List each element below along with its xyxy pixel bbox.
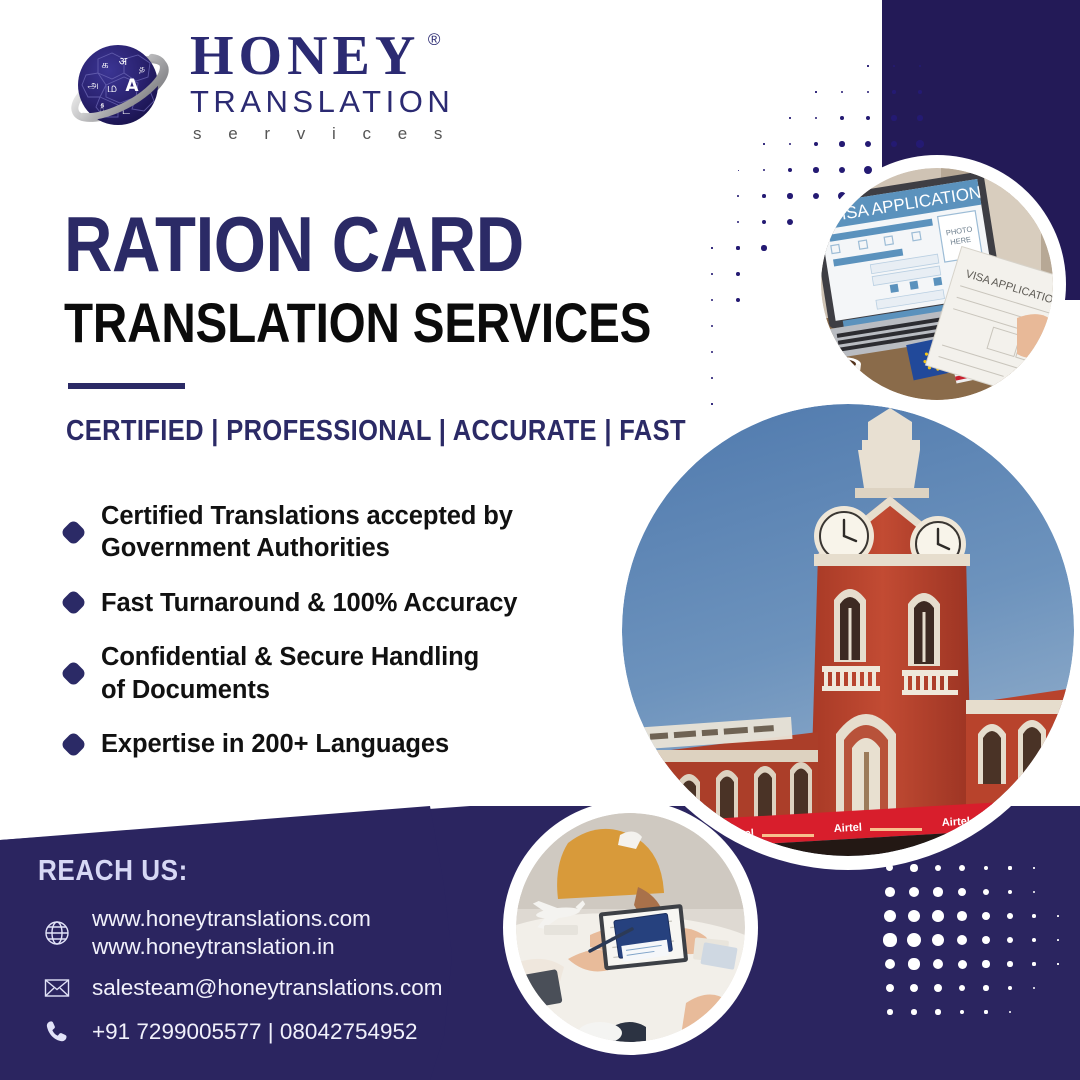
contact-row-phone[interactable]: +91 7299005577 | 08042754952 (40, 1015, 510, 1049)
list-item: Certified Translations accepted byGovern… (64, 500, 594, 565)
tagline: CERTIFIED | PROFESSIONAL | ACCURATE | FA… (66, 417, 686, 446)
svg-text:Airtel: Airtel (834, 822, 863, 835)
contact-row-email[interactable]: salesteam@honeytranslations.com (40, 971, 510, 1005)
website-url-secondary[interactable]: www.honeytranslation.in (92, 933, 371, 961)
poster-canvas: க अ த அ ம A ీ ட HONEY® TRANSLATION s e r… (0, 0, 1080, 1080)
visa-application-photo: VISA APPLICATION (808, 155, 1066, 413)
svg-text:Airtel: Airtel (942, 816, 971, 829)
logo-wordmark: HONEY® TRANSLATION s e r v i c e s (190, 28, 454, 147)
list-item: Fast Turnaround & 100% Accuracy (64, 587, 594, 619)
language-globe-icon: க अ த அ ம A ీ ட (66, 33, 174, 141)
contact-list: www.honeytranslations.com www.honeytrans… (40, 905, 510, 1059)
svg-text:A: A (125, 76, 139, 96)
headline-divider (68, 383, 185, 389)
svg-text:अ: अ (119, 55, 128, 68)
website-url-primary[interactable]: www.honeytranslations.com (92, 905, 371, 933)
phone-numbers[interactable]: +91 7299005577 | 08042754952 (92, 1018, 418, 1046)
bullet-diamond-icon (60, 519, 87, 546)
envelope-icon (40, 971, 74, 1005)
list-item: Expertise in 200+ Languages (64, 728, 594, 760)
list-item-label: Confidential & Secure Handlingof Documen… (101, 641, 479, 706)
bullet-diamond-icon (60, 590, 87, 617)
registered-trademark-icon: ® (428, 32, 441, 48)
phone-icon (40, 1015, 74, 1049)
globe-icon (40, 916, 74, 950)
benefits-list: Certified Translations accepted byGovern… (64, 500, 594, 782)
desk-photo-inner (516, 813, 745, 1042)
list-item-label: Fast Turnaround & 100% Accuracy (101, 587, 517, 619)
website-urls: www.honeytranslations.com www.honeytrans… (92, 905, 371, 961)
bullet-diamond-icon (60, 731, 87, 758)
chennai-central-station-photo: Airtel Airtel Airtel Airtel (608, 390, 1080, 870)
email-address[interactable]: salesteam@honeytranslations.com (92, 974, 443, 1002)
svg-text:அ: அ (87, 80, 98, 91)
visa-photo-inner: VISA APPLICATION (821, 168, 1053, 400)
svg-text:த: த (139, 64, 145, 74)
brand-logo[interactable]: க अ த அ ம A ీ ட HONEY® TRANSLATION s e r… (66, 28, 454, 147)
svg-text:ம: ம (107, 81, 117, 96)
list-item-label: Expertise in 200+ Languages (101, 728, 449, 760)
svg-text:க: க (101, 58, 108, 71)
passport-handover-photo (503, 800, 758, 1055)
bullet-diamond-icon (60, 660, 87, 687)
list-item: Confidential & Secure Handlingof Documen… (64, 641, 594, 706)
svg-text:Airtel: Airtel (726, 828, 755, 841)
footer-heading: REACH US: (38, 855, 188, 888)
headline-primary: RATION CARD (64, 205, 524, 283)
logo-name-primary: HONEY® (190, 30, 420, 83)
logo-name-tertiary: s e r v i c e s (190, 122, 454, 147)
station-photo-inner: Airtel Airtel Airtel Airtel (622, 404, 1074, 856)
logo-name-secondary: TRANSLATION (190, 83, 454, 122)
list-item-label: Certified Translations accepted byGovern… (101, 500, 513, 565)
headline-secondary: TRANSLATION SERVICES (64, 295, 651, 351)
contact-row-website[interactable]: www.honeytranslations.com www.honeytrans… (40, 905, 510, 961)
